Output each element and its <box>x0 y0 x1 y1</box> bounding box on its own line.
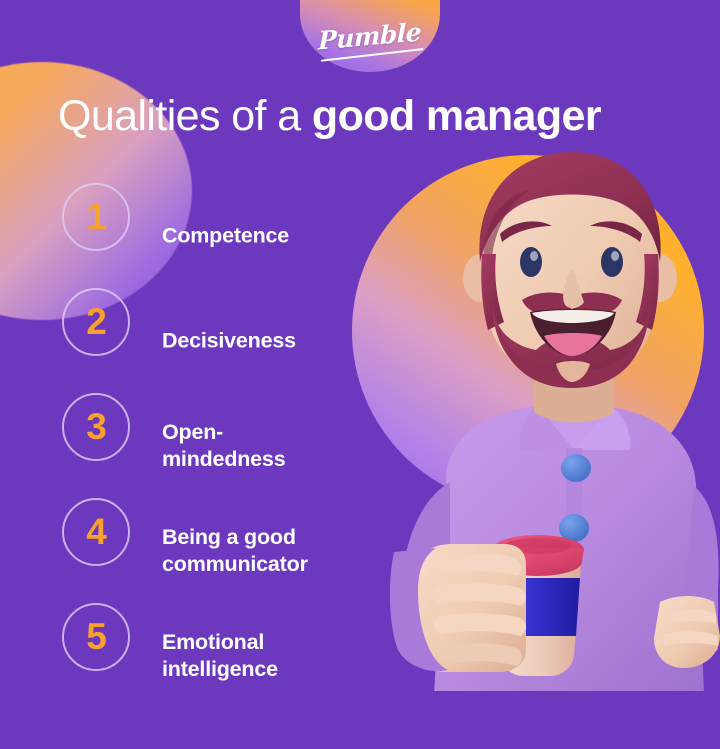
character-head <box>463 152 677 388</box>
number-badge-label: 3 <box>86 408 106 445</box>
pumble-logo-text: Pumble <box>318 17 421 55</box>
list-item-label: Emotionalintelligence <box>162 628 392 682</box>
list-item-label: Decisiveness <box>162 327 392 354</box>
qualities-list: 1 Competence 2 Decisiveness 3 Open-minde… <box>62 183 392 708</box>
character-right-hand <box>654 596 720 668</box>
bottom-purple-band <box>0 691 720 749</box>
number-badge-2: 2 <box>62 288 130 356</box>
character-illustration <box>388 150 720 695</box>
list-item-label: Competence <box>162 222 392 249</box>
list-item: 1 Competence <box>62 183 392 288</box>
list-item: 2 Decisiveness <box>62 288 392 393</box>
page-title-bold: good manager <box>312 92 601 140</box>
logo-underline-flourish <box>321 47 424 61</box>
list-item-label: Being a goodcommunicator <box>162 523 392 577</box>
number-badge-5: 5 <box>62 603 130 671</box>
number-badge-label: 4 <box>86 513 106 550</box>
number-badge-label: 2 <box>86 303 106 340</box>
brand-logo: Pumble <box>300 0 440 72</box>
character-left-hand <box>390 544 526 672</box>
page-title-light: Qualities of a <box>58 92 312 140</box>
infographic-canvas: Pumble Qualities of a good manager 1 Com… <box>0 0 720 749</box>
number-badge-label: 5 <box>86 618 106 655</box>
page-title: Qualities of a good manager <box>58 94 601 139</box>
number-badge-1: 1 <box>62 183 130 251</box>
number-badge-4: 4 <box>62 498 130 566</box>
list-item-label: Open-mindedness <box>162 418 392 472</box>
number-badge-3: 3 <box>62 393 130 461</box>
list-item: 4 Being a goodcommunicator <box>62 498 392 603</box>
number-badge-label: 1 <box>86 198 106 235</box>
list-item: 3 Open-mindedness <box>62 393 392 498</box>
